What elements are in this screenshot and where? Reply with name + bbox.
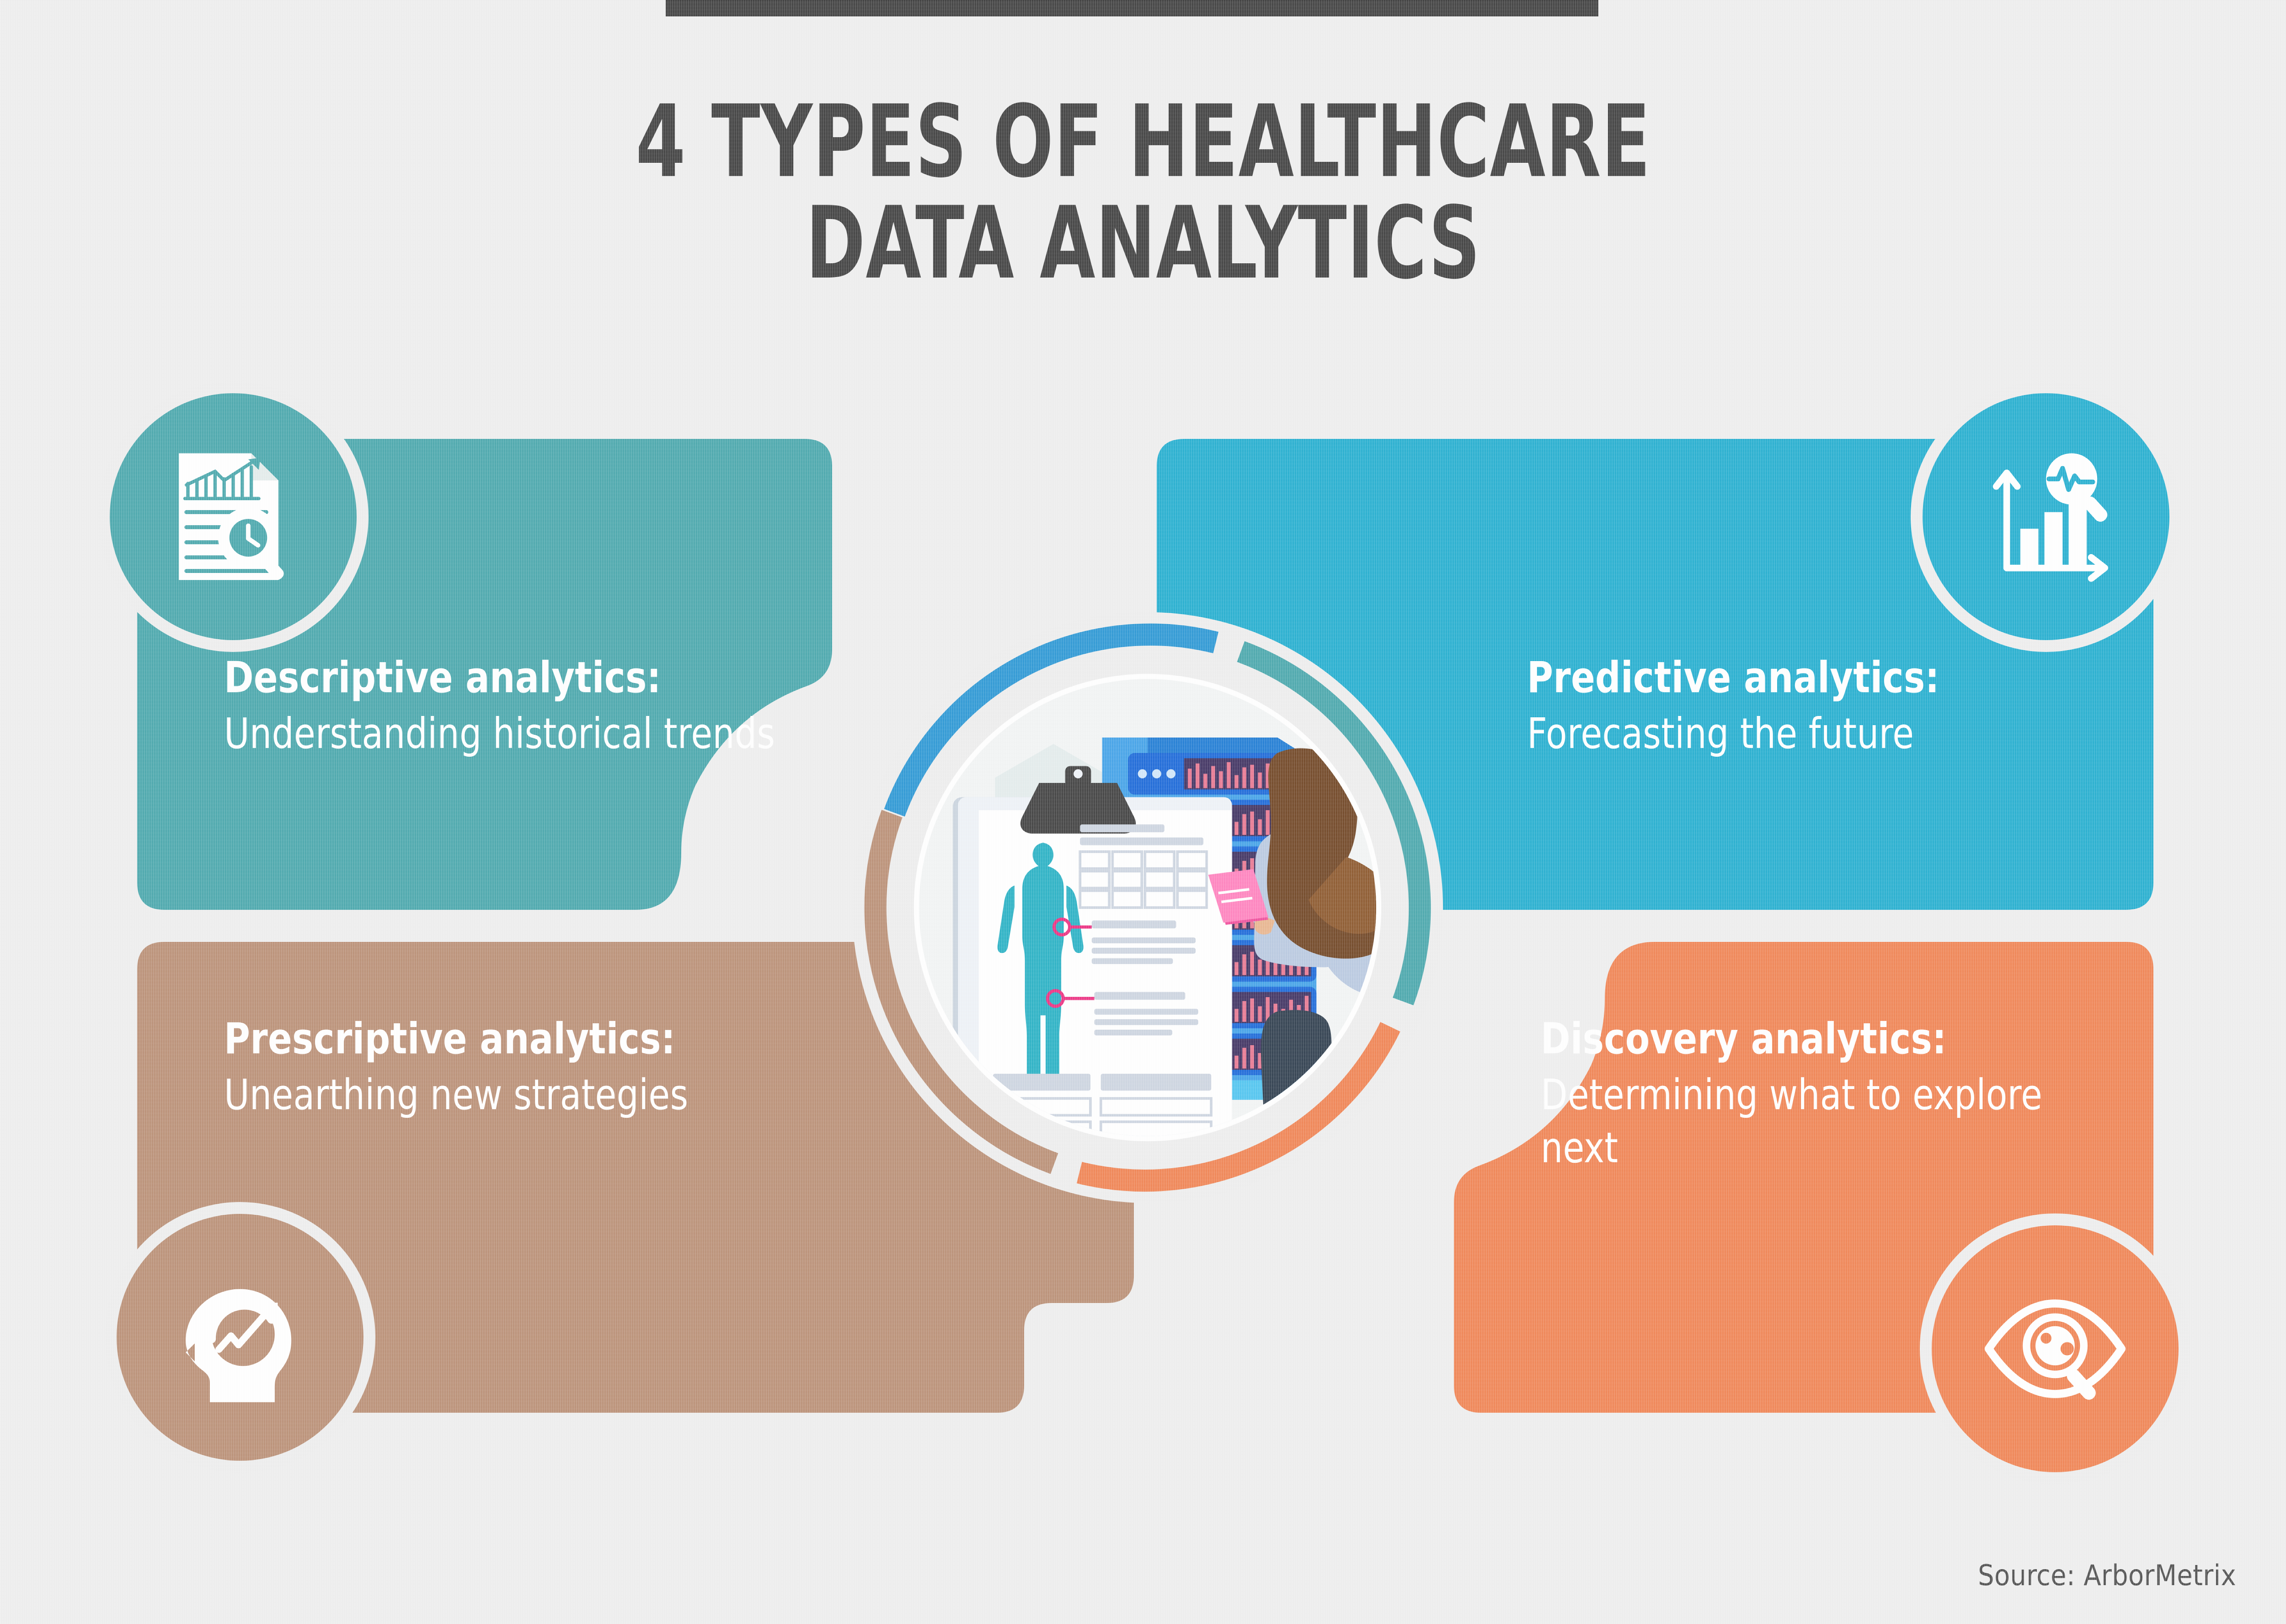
panel-discovery-body: Determining what to explore next — [1541, 1068, 2104, 1175]
eye-magnifier-icon — [1980, 1273, 2131, 1424]
document-chart-clock-magnifier-icon — [158, 441, 309, 592]
panel-descriptive-heading: Descriptive analytics: — [224, 654, 775, 702]
page-title: 4 TYPES OF HEALTHCARE DATA ANALYTICS — [0, 91, 2286, 295]
page-title-line-1: 4 TYPES OF HEALTHCARE — [229, 91, 2058, 193]
head-gauge-arrow-icon — [165, 1262, 315, 1413]
header-rule — [666, 0, 1598, 16]
panel-prescriptive-heading: Prescriptive analytics: — [224, 1015, 688, 1063]
panel-prescriptive-text: Prescriptive analytics: Unearthing new s… — [224, 1015, 729, 1122]
panel-descriptive-text: Descriptive analytics: Understanding his… — [224, 654, 823, 760]
panel-predictive-heading: Predictive analytics: — [1527, 654, 1939, 702]
icon-badge-descriptive[interactable] — [110, 393, 357, 640]
panel-predictive-text: Predictive analytics: Forecasting the fu… — [1527, 654, 1975, 760]
bar-chart-pulse-magnifier-icon — [1971, 441, 2121, 592]
source-credit: Source: ArborMetrix — [1978, 1559, 2236, 1592]
icon-badge-discovery[interactable] — [1932, 1225, 2179, 1472]
panel-descriptive-body: Understanding historical trends — [224, 707, 775, 760]
panel-prescriptive-body: Unearthing new strategies — [224, 1068, 688, 1122]
icon-badge-predictive[interactable] — [1923, 393, 2169, 640]
panel-discovery-text: Discovery analytics: Determining what to… — [1541, 1015, 2153, 1175]
healthcare-data-illustration — [823, 583, 1472, 1232]
panel-discovery-heading: Discovery analytics: — [1541, 1015, 2104, 1063]
icon-badge-prescriptive[interactable] — [117, 1214, 363, 1461]
page-title-line-2: DATA ANALYTICS — [229, 193, 2058, 294]
panel-predictive-body: Forecasting the future — [1527, 707, 1939, 760]
center-illustration — [823, 583, 1472, 1232]
